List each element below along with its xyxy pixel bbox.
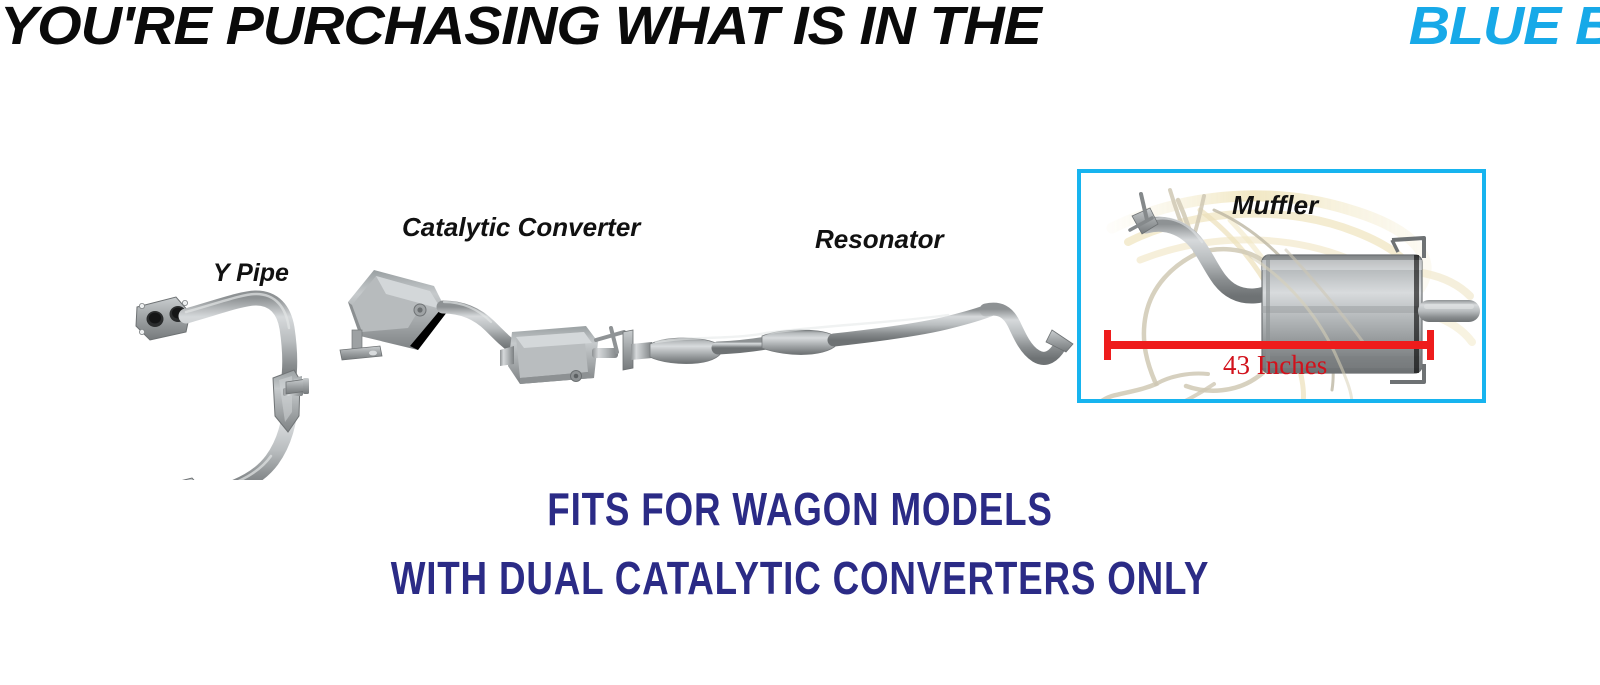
catalytic-converter-rear (500, 326, 624, 384)
resonator-illustration (623, 309, 1073, 370)
label-catalytic-converter: Catalytic Converter (402, 212, 640, 243)
promo-banner: YOU'RE PURCHASING WHAT IS IN THE BLUE BO… (0, 0, 1600, 685)
catalytic-converter-illustration (340, 270, 624, 384)
footer-line-1: FITS FOR WAGON MODELS (160, 482, 1440, 536)
label-resonator: Resonator (815, 224, 944, 255)
label-y-pipe: Y Pipe (213, 259, 289, 288)
y-pipe-illustration (136, 294, 309, 480)
headline-highlight-text: BLUE BOX (1409, 0, 1600, 57)
label-muffler: Muffler (1232, 190, 1318, 221)
headline-primary-text: YOU'RE PURCHASING WHAT IS IN THE (0, 0, 1041, 57)
measurement-label: 43 Inches (1223, 350, 1327, 381)
footer-line-2: WITH DUAL CATALYTIC CONVERTERS ONLY (160, 551, 1440, 605)
y-pipe-lower-flange (152, 478, 206, 480)
headline-banner: YOU'RE PURCHASING WHAT IS IN THE BLUE BO… (0, 0, 1600, 54)
catalytic-converter-front (340, 270, 447, 360)
